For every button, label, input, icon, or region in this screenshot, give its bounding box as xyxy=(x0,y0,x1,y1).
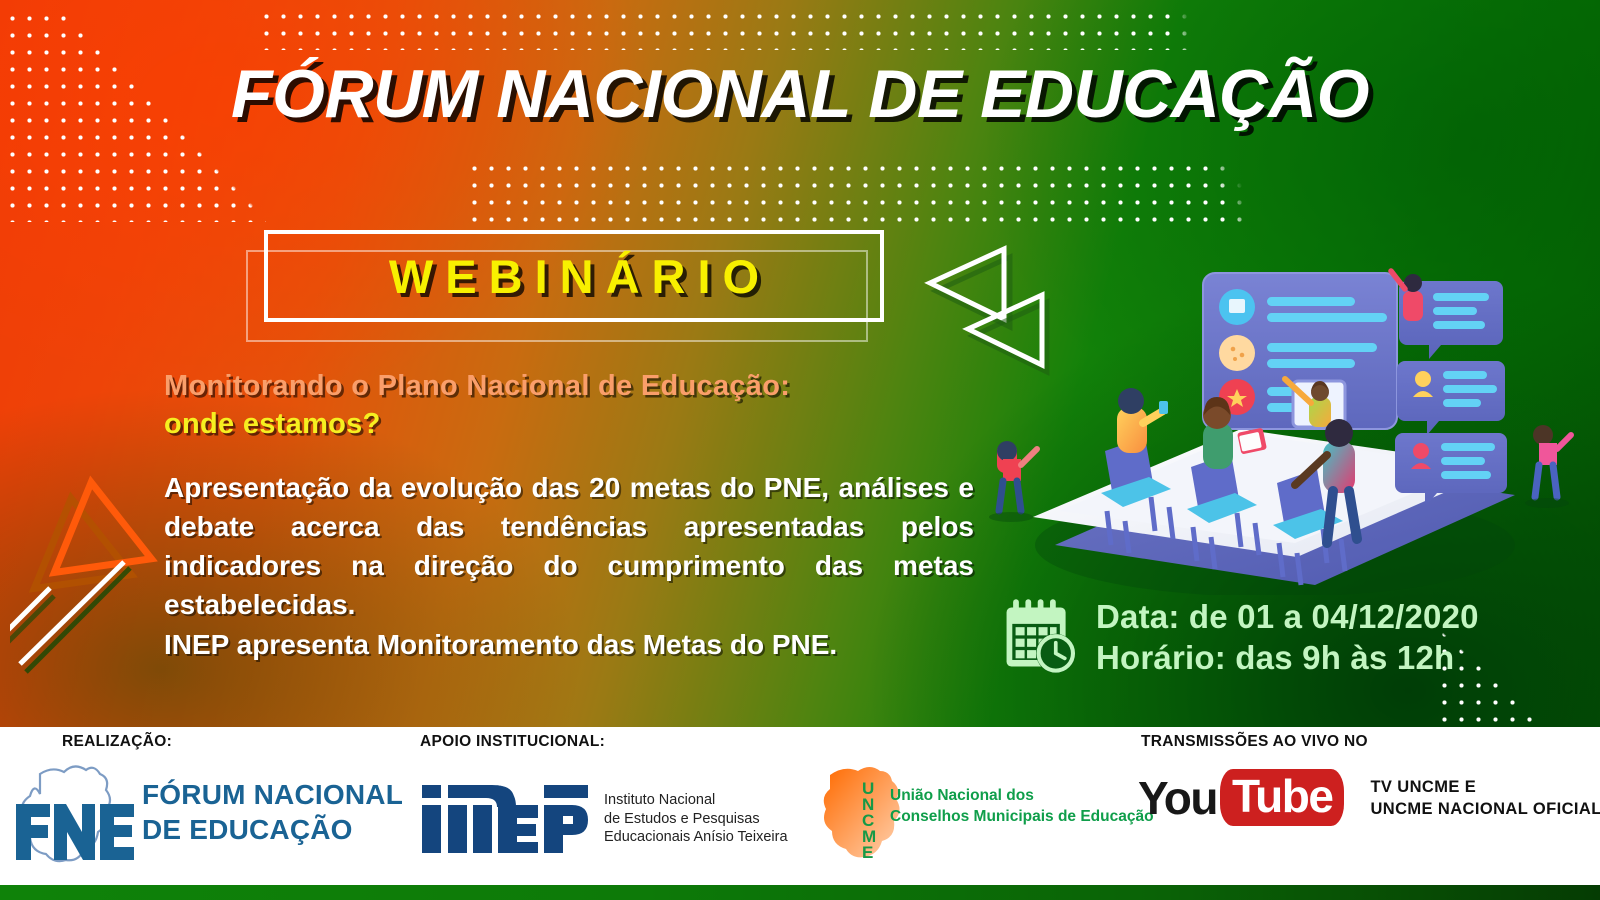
uncme-name-line-1: União Nacional dos xyxy=(890,785,1154,806)
inep-desc-line-3: Educacionais Anísio Teixeira xyxy=(604,828,788,847)
inep-wordmark-icon xyxy=(420,783,588,855)
webinar-poster: FÓRUM NACIONAL DE EDUCAÇÃO WEBINÁRIO Mon… xyxy=(0,0,1600,900)
uncme-acronym-stack: U N C M E xyxy=(862,781,876,861)
event-datetime: Data: de 01 a 04/12/2020 Horário: das 9h… xyxy=(1000,596,1479,678)
footer-logos-bar: REALIZAÇÃO: APOIO INSTITUCIONAL: TRANSMI… xyxy=(0,727,1600,885)
poster-subtitle: Monitorando o Plano Nacional de Educação… xyxy=(164,367,1024,443)
bottom-green-strip xyxy=(0,885,1600,900)
halftone-dot-pattern-icon xyxy=(466,160,1266,222)
fne-logo[interactable]: FÓRUM NACIONAL DE EDUCAÇÃO xyxy=(10,757,410,867)
calendar-clock-icon xyxy=(1000,596,1082,678)
webinar-badge-label: WEBINÁRIO xyxy=(377,249,771,304)
youtube-logo-icon[interactable]: You Tube xyxy=(1138,769,1344,826)
caption-apoio-institucional: APOIO INSTITUCIONAL: xyxy=(420,733,605,751)
inep-desc-line-2: de Estudos e Pesquisas xyxy=(604,810,788,829)
uncme-letter: E xyxy=(862,845,876,861)
fne-name-line-2: DE EDUCAÇÃO xyxy=(142,812,403,847)
webinar-classroom-3d-illustration-icon xyxy=(955,245,1585,595)
webinar-badge-frame: WEBINÁRIO xyxy=(264,230,884,322)
hero-gradient-background: FÓRUM NACIONAL DE EDUCAÇÃO WEBINÁRIO Mon… xyxy=(0,0,1600,727)
youtube-word-tube: Tube xyxy=(1232,770,1332,822)
diagonal-lines-decor-icon xyxy=(10,560,180,680)
description-last-line: INEP apresenta Monitoramento das Metas d… xyxy=(164,625,974,664)
uncme-name-line-2: Conselhos Municipais de Educação xyxy=(890,806,1154,827)
fne-name-line-1: FÓRUM NACIONAL xyxy=(142,777,403,812)
uncme-logo[interactable]: U N C M E União Nacional dos Conselhos M… xyxy=(800,759,1150,869)
halftone-dot-pattern-icon xyxy=(258,8,1258,50)
youtube-channel-line-1: TV UNCME E xyxy=(1370,776,1600,798)
subtitle-line-2: onde estamos? xyxy=(164,405,1024,443)
youtube-red-box: Tube xyxy=(1220,769,1344,826)
description-paragraph: Apresentação da evolução das 20 metas do… xyxy=(164,468,974,624)
caption-transmissoes: TRANSMISSÕES AO VIVO NO xyxy=(1141,733,1368,751)
inep-logo[interactable]: Instituto Nacional de Estudos e Pesquisa… xyxy=(420,771,820,867)
youtube-word-you: You xyxy=(1138,775,1217,821)
inep-desc-line-1: Instituto Nacional xyxy=(604,791,788,810)
youtube-broadcast-block[interactable]: You Tube TV UNCME E UNCME NACIONAL OFICI… xyxy=(1138,769,1600,826)
event-date: Data: de 01 a 04/12/2020 xyxy=(1096,596,1479,637)
poster-description: Apresentação da evolução das 20 metas do… xyxy=(164,468,974,664)
poster-title: FÓRUM NACIONAL DE EDUCAÇÃO xyxy=(0,60,1600,128)
caption-realizacao: REALIZAÇÃO: xyxy=(62,733,172,751)
event-time: Horário: das 9h às 12h xyxy=(1096,637,1479,678)
youtube-channel-line-2: UNCME NACIONAL OFICIAL xyxy=(1370,798,1600,820)
webinar-badge: WEBINÁRIO xyxy=(246,230,886,345)
fne-brazil-map-icon xyxy=(10,758,138,866)
subtitle-line-1: Monitorando o Plano Nacional de Educação… xyxy=(164,367,1024,405)
